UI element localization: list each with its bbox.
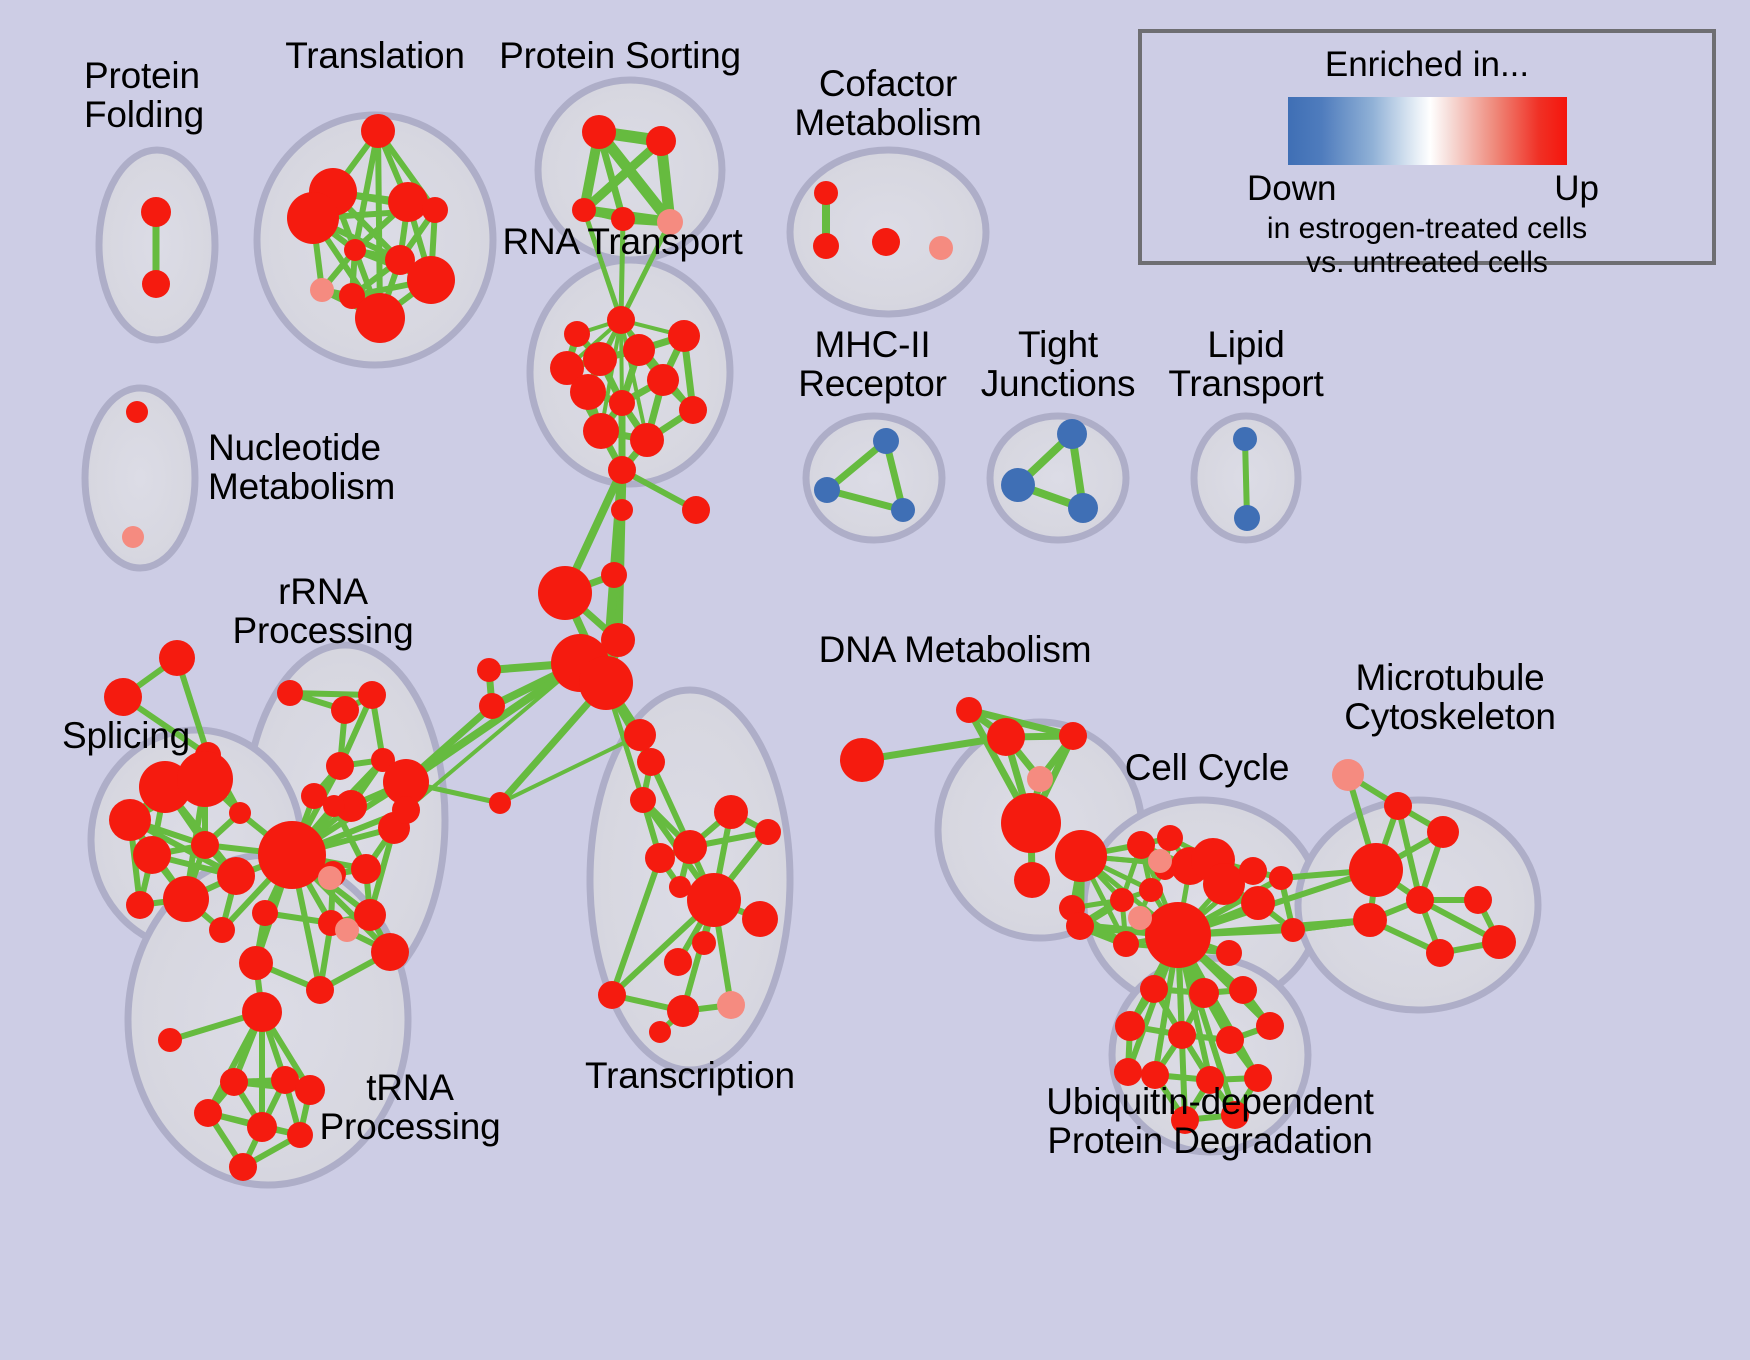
legend-endpoint-labels: Down Up: [1247, 169, 1607, 211]
legend-subtitle: in estrogen-treated cells vs. untreated …: [1142, 212, 1712, 279]
cluster-label-rrna-processing: rRNA Processing: [228, 572, 418, 650]
legend-high-label: Up: [1554, 169, 1599, 209]
legend-title: Enriched in...: [1142, 45, 1712, 85]
cluster-label-tight-junctions: Tight Junctions: [958, 325, 1158, 403]
cluster-label-splicing: Splicing: [62, 716, 190, 755]
cluster-label-dna-metabolism: DNA Metabolism: [810, 630, 1100, 669]
cluster-label-cofactor-metabolism: Cofactor Metabolism: [768, 64, 1008, 142]
legend-panel: Enriched in... Down Up in estrogen-treat…: [1138, 29, 1716, 265]
cluster-label-protein-folding: Protein Folding: [84, 56, 204, 134]
cluster-label-rna-transport: RNA Transport: [500, 222, 745, 261]
cluster-label-transcription: Transcription: [570, 1056, 810, 1095]
cluster-label-ubiquitin-degradation: Ubiquitin-dependent Protein Degradation: [980, 1082, 1440, 1160]
cluster-label-mhc-ii-receptor: MHC-II Receptor: [770, 325, 975, 403]
cluster-label-translation: Translation: [255, 36, 495, 75]
cluster-label-trna-processing: tRNA Processing: [300, 1068, 520, 1146]
cluster-label-nucleotide-metabolism: Nucleotide Metabolism: [208, 428, 395, 506]
network-canvas: Protein Folding Translation Protein Sort…: [0, 0, 1750, 1360]
cluster-label-protein-sorting: Protein Sorting: [490, 36, 750, 75]
legend-low-label: Down: [1247, 169, 1336, 209]
cluster-label-lipid-transport: Lipid Transport: [1148, 325, 1344, 403]
legend-color-gradient-bar: [1288, 97, 1567, 165]
cluster-label-cell-cycle: Cell Cycle: [1092, 748, 1322, 787]
cluster-label-microtubule-cytoskeleton: Microtubule Cytoskeleton: [1300, 658, 1600, 736]
